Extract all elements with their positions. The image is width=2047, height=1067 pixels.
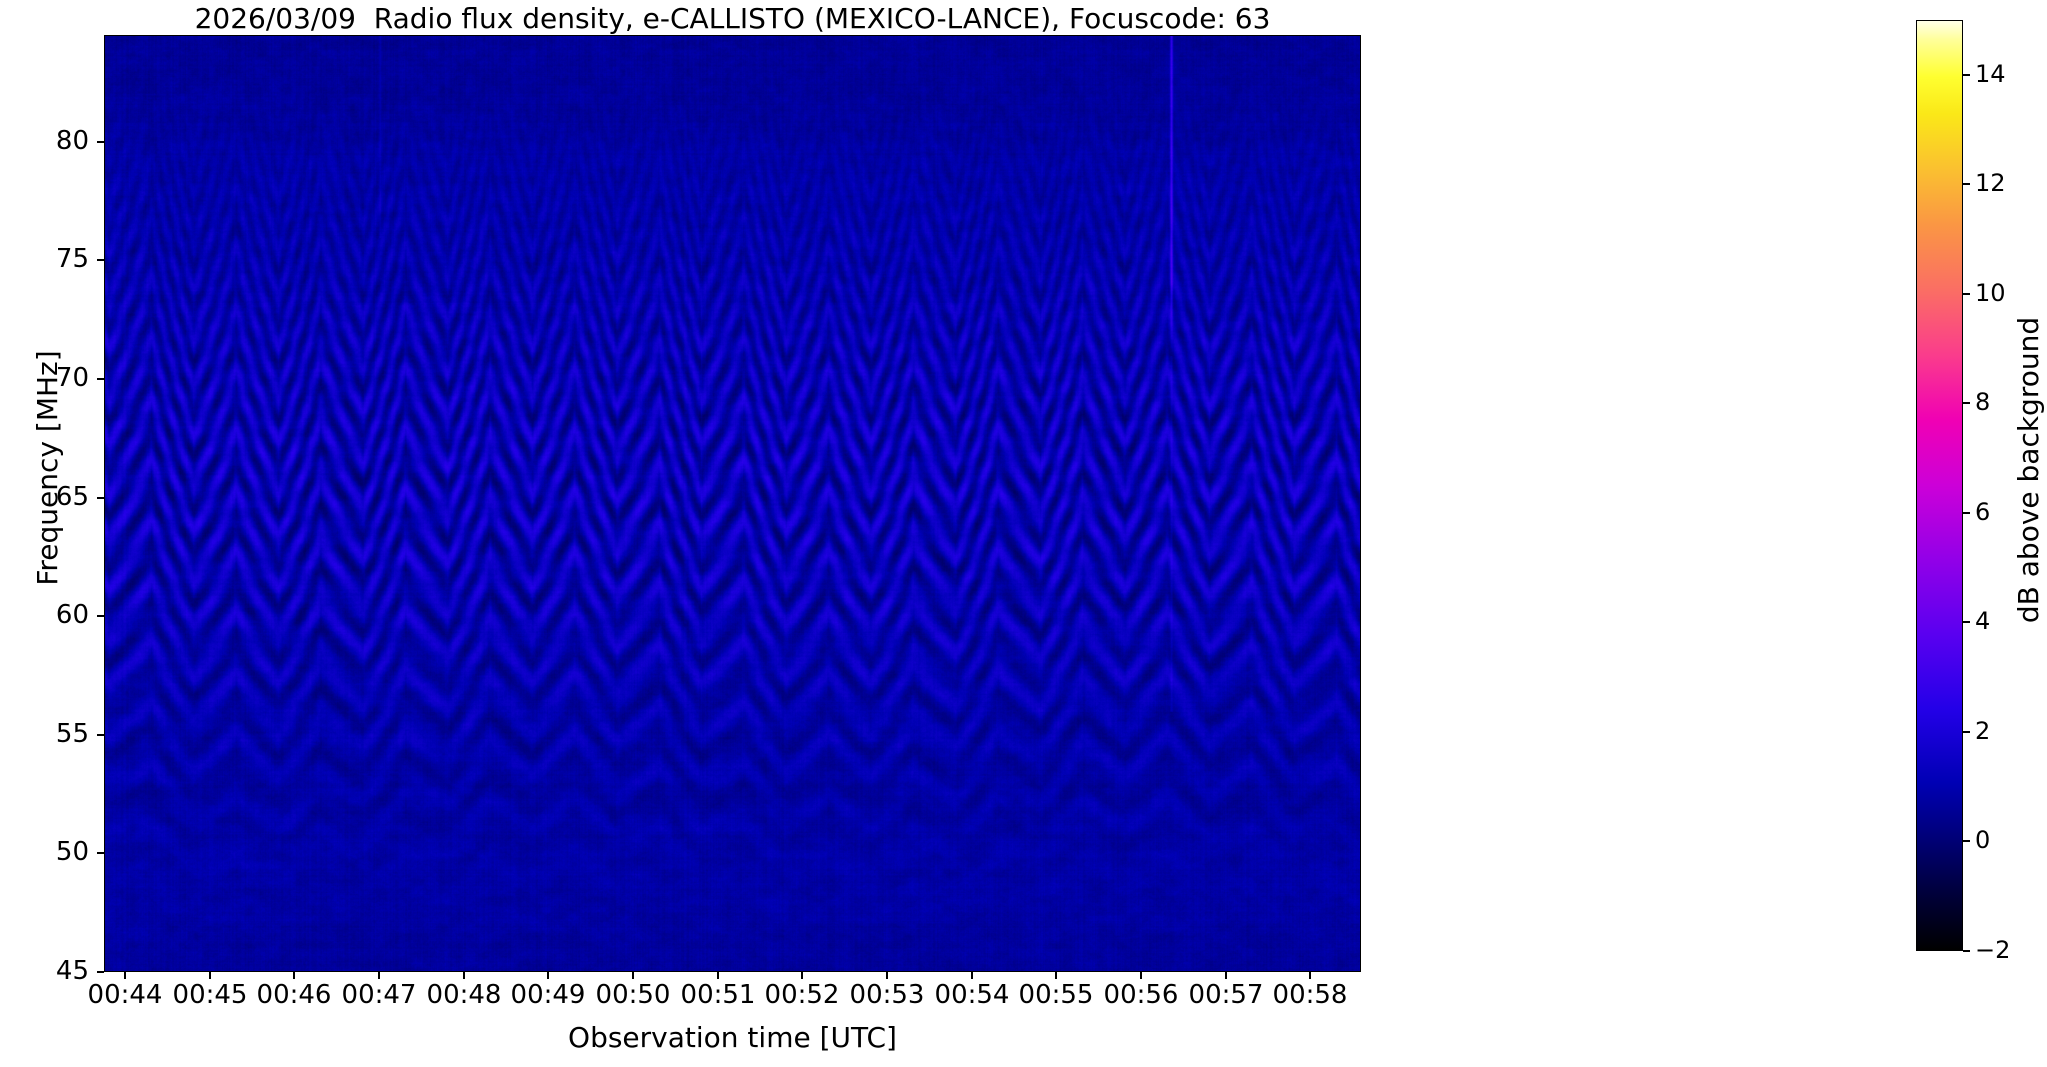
y-tick-mark [97,497,104,499]
y-tick-mark [97,852,104,854]
y-tick-mark [97,141,104,143]
colorbar-tick-mark [1963,950,1970,952]
y-tick-mark [97,734,104,736]
x-tick-mark [801,972,803,979]
x-tick-mark [971,972,973,979]
x-tick-mark [378,972,380,979]
colorbar-tick-mark [1963,731,1970,733]
page-title: 2026/03/09 Radio flux density, e-CALLIST… [104,4,1361,34]
x-tick-mark [886,972,888,979]
colorbar-tick-mark [1963,183,1970,185]
y-tick-mark [97,378,104,380]
x-tick-mark [124,972,126,979]
x-tick-mark [1055,972,1057,979]
colorbar-label-container: dB above background [2012,0,2046,1000]
colorbar-label: dB above background [2014,210,2044,730]
x-tick-mark [463,972,465,979]
y-tick-mark [97,971,104,973]
colorbar-tick-mark [1963,512,1970,514]
x-tick-mark [632,972,634,979]
x-tick-mark [717,972,719,979]
spectrogram-image [105,36,1361,972]
x-tick-label: 00:58 [1250,982,1370,1008]
x-axis-label: Observation time [UTC] [104,1022,1361,1054]
spectrogram-figure: 2026/03/09 Radio flux density, e-CALLIST… [0,0,2047,1067]
colorbar-tick-mark [1963,402,1970,404]
colorbar-tick-mark [1963,293,1970,295]
x-tick-mark [209,972,211,979]
x-tick-mark [1225,972,1227,979]
colorbar-tick-mark [1963,621,1970,623]
y-tick-mark [97,259,104,261]
colorbar-tick-mark [1963,840,1970,842]
x-tick-mark [547,972,549,979]
y-axis-label-container: Frequency [MHz] [16,0,50,1007]
x-tick-mark [1309,972,1311,979]
y-axis-label: Frequency [MHz] [33,208,63,728]
colorbar [1916,20,1963,951]
y-tick-mark [97,615,104,617]
spectrogram-plot-area [104,35,1361,972]
x-tick-mark [293,972,295,979]
x-tick-mark [1140,972,1142,979]
colorbar-tick-mark [1963,74,1970,76]
